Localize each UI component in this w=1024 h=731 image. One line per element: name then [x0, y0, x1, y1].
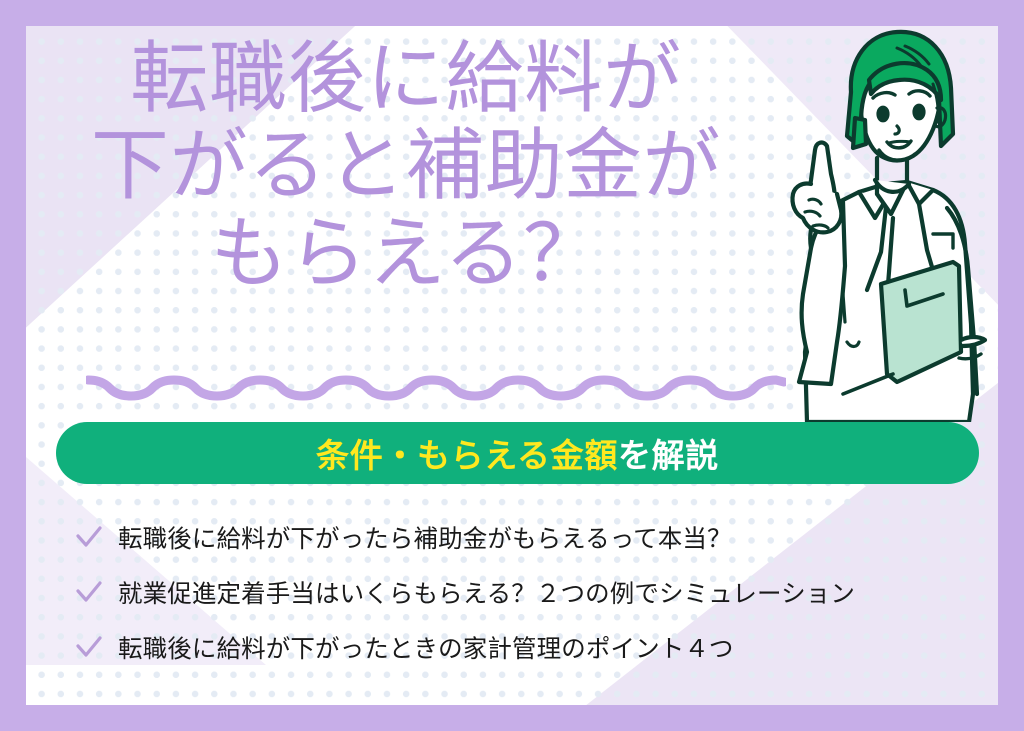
poster-frame: 転職後に給料が 下がると補助金が もらえる？ 条件・もらえる金額を解説 転職後に… — [0, 0, 1024, 731]
list-item: 転職後に給料が下がったときの家計管理のポイント４つ — [74, 620, 974, 675]
subtitle-banner: 条件・もらえる金額を解説 — [56, 422, 979, 484]
list-item-label: 就業促進定着手当はいくらもらえる？２つの例でシミュレーション — [118, 575, 855, 610]
page-title-line-3: もらえる？ — [26, 211, 786, 298]
list-item-label: 転職後に給料が下がったときの家計管理のポイント４つ — [118, 630, 734, 665]
topic-list: 転職後に給料が下がったら補助金がもらえるって本当？ 就業促進定着手当はいくらもら… — [74, 510, 974, 675]
check-icon — [74, 633, 104, 663]
list-item-label: 転職後に給料が下がったら補助金がもらえるって本当？ — [118, 520, 732, 555]
page-title: 転職後に給料が 下がると補助金が もらえる？ — [26, 36, 786, 298]
list-item: 転職後に給料が下がったら補助金がもらえるって本当？ — [74, 510, 974, 565]
subtitle-highlight: 条件・もらえる金額 — [316, 436, 618, 475]
wavy-divider-icon — [86, 366, 786, 406]
subtitle-rest: を解説 — [618, 436, 719, 475]
poster-canvas: 転職後に給料が 下がると補助金が もらえる？ 条件・もらえる金額を解説 転職後に… — [26, 26, 998, 705]
check-icon — [74, 578, 104, 608]
woman-pointing-up-illustration — [747, 26, 998, 422]
poster-content: 転職後に給料が 下がると補助金が もらえる？ 条件・もらえる金額を解説 転職後に… — [26, 26, 998, 705]
check-icon — [74, 523, 104, 553]
list-item: 就業促進定着手当はいくらもらえる？２つの例でシミュレーション — [74, 565, 974, 620]
page-title-line-2: 下がると補助金が — [26, 123, 786, 210]
subtitle-banner-text: 条件・もらえる金額を解説 — [316, 429, 719, 477]
page-title-line-1: 転職後に給料が — [26, 36, 786, 123]
